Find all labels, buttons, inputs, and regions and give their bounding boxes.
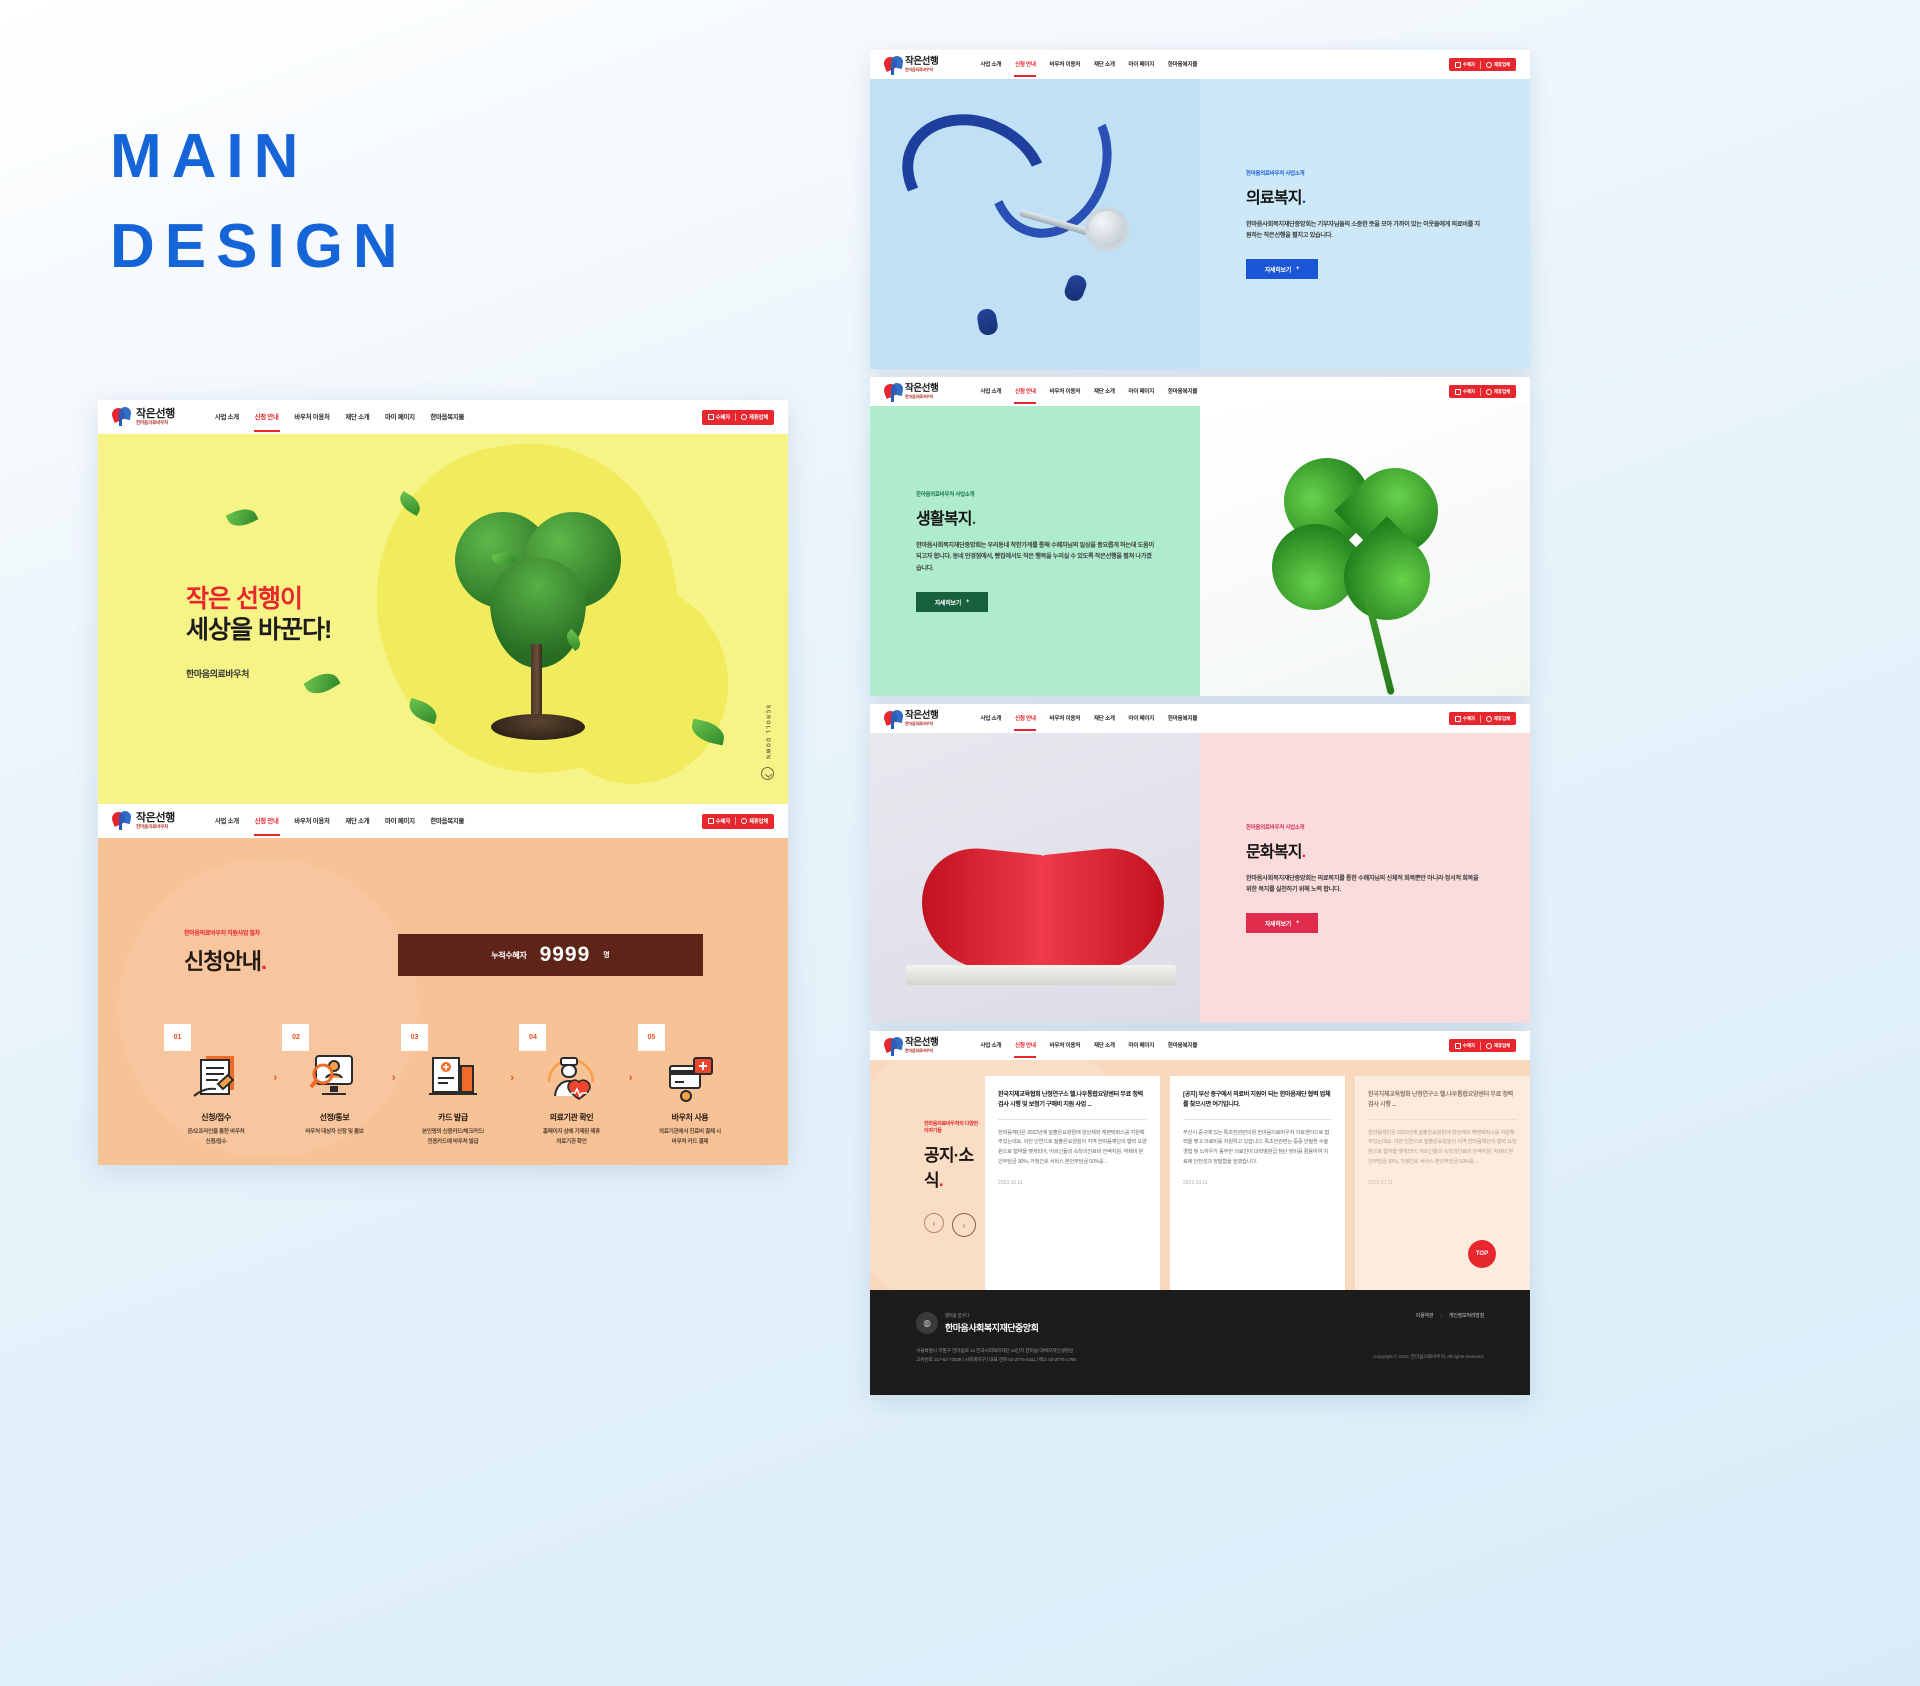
nav-item-apply[interactable]: 신청 안내 — [1015, 387, 1036, 397]
site-header-secondary: 작은선행 한마음의료바우처 사업 소개 · 신청 안내 · 바우처 이용처 · … — [98, 804, 788, 838]
living-welfare-section: 한마음의료바우처 사업소개 생활복지. 한마음사회복지재단중앙회는 우리동네 착… — [870, 406, 1530, 696]
section-description: 한마음사회복지재단중앙회는 우리동네 착한가게를 통해 수혜자님의 일상을 풍요… — [916, 540, 1154, 574]
step-desc-line2: 전용카드에 바우처 발급 — [405, 1138, 501, 1148]
hero-line1: 작은 선행이 — [186, 585, 302, 613]
section-title: 생활복지 — [916, 511, 972, 528]
nav-separator: · — [1160, 716, 1162, 722]
carousel-prev-button[interactable]: ‹ — [924, 1213, 944, 1233]
nav-item-welfare-mall[interactable]: 한마음복지몰 — [430, 412, 464, 423]
nav-separator: · — [1160, 62, 1162, 68]
nav-separator: · — [246, 818, 248, 824]
site-logo[interactable]: 작은선행 한마음의료바우처 — [884, 710, 938, 727]
step-number: 02 — [282, 1024, 309, 1051]
apply-guide-section: 한마음의료바우처 지원사업 절차 신청안내. 누적수혜자 9999 명 01 신… — [98, 838, 788, 1165]
notice-section: 한마음의료바우처의 다양한 이야기들 공지·소식. ‹ › 한국지체교육협회 난… — [870, 1060, 1530, 1290]
nav-item-voucher-places[interactable]: 바우처 이용처 — [294, 412, 329, 423]
nav-separator: · — [286, 818, 288, 824]
nav-item-voucher-places[interactable]: 바우처 이용처 — [1050, 1041, 1081, 1051]
nav-separator: · — [1121, 1043, 1123, 1049]
header-action-buttons[interactable]: 수혜자 제휴업체 — [1449, 712, 1516, 725]
nav-item-business[interactable]: 사업 소개 — [980, 60, 1001, 70]
notice-title-dot: . — [939, 1171, 943, 1190]
partner-button[interactable]: 제휴업체 — [1486, 1043, 1510, 1049]
logo-name: 작은선행 — [905, 1038, 938, 1048]
nav-separator: · — [1042, 716, 1044, 722]
header-action-buttons[interactable]: 수혜자 제휴업체 — [1449, 1039, 1516, 1052]
logo-subtitle: 한마음의료바우처 — [905, 722, 938, 726]
scroll-down-label: SCROLL DOWN — [765, 705, 771, 760]
nav-item-mypage[interactable]: 마이 페이지 — [385, 412, 415, 423]
culture-welfare-section: 한마음의료바우처 사업소개 문화복지. 한마음사회복지재단중앙회는 의료복지를 … — [870, 733, 1530, 1023]
process-step: 02 선정/통보 바우처 대상자 선정 및 통보 — [286, 1038, 382, 1138]
divider — [1480, 715, 1481, 723]
medical-welfare-copy: 한마음의료바우처 사업소개 의료복지. 한마음사회복지재단중앙회는 기부자님들의… — [1200, 79, 1530, 369]
step-desc-line2: 바우처 카드 결제 — [642, 1138, 738, 1148]
nav-separator: · — [422, 818, 424, 824]
beneficiary-button[interactable]: 수혜자 — [1455, 389, 1475, 395]
notice-card-date: 2023.10.11 — [998, 1180, 1147, 1186]
step-number: 01 — [164, 1024, 191, 1051]
plus-icon: + — [1296, 920, 1299, 926]
partner-button[interactable]: 제휴업체 — [1486, 389, 1510, 395]
partner-button[interactable]: 제휴업체 — [741, 817, 768, 825]
step-desc-line1: 바우처 대상자 선정 및 통보 — [286, 1128, 382, 1138]
notice-card-title: 한국지체교육협회 난청연구소 헬.나우통합요양센터 무료 청력검사 시행 및 보… — [998, 1090, 1147, 1110]
step-arrow-icon: › — [629, 1072, 633, 1084]
nav-item-apply[interactable]: 신청 안내 — [255, 412, 279, 423]
notice-card-body: 한마음재단은 2022년에 잘출은요양원에 양상제와 케펜텍파스를 지원해주었는… — [1368, 1129, 1517, 1168]
divider — [735, 413, 736, 421]
beneficiary-button[interactable]: 수혜자 — [708, 413, 730, 421]
section-title-dot: . — [1302, 844, 1306, 861]
nav-item-welfare-mall[interactable]: 한마음복지몰 — [1168, 1041, 1197, 1051]
notice-card[interactable]: 한국지체교육협회 난청연구소 헬.나우통합요양센터 무료 청력검사 시행 ...… — [1355, 1076, 1530, 1290]
nav-separator: · — [1007, 62, 1009, 68]
step-desc-line2: 의료기관 확인 — [523, 1138, 619, 1148]
nav-item-welfare-mall[interactable]: 한마음복지몰 — [1168, 714, 1197, 724]
hero-line2: 세상을 바꾼다! — [186, 615, 331, 646]
site-logo[interactable]: 작은선행 한마음의료바우처 — [112, 407, 175, 427]
logo-name: 작은선행 — [905, 57, 938, 67]
detail-button-label: 자세히보기 — [1265, 265, 1291, 274]
counter-unit: 명 — [603, 950, 609, 960]
medical-welfare-section: 한마음의료바우처 사업소개 의료복지. 한마음사회복지재단중앙회는 기부자님들의… — [870, 79, 1530, 369]
section-description: 한마음사회복지재단중앙회는 기부자님들의 소중한 뜻을 모아 가까이 있는 이웃… — [1246, 219, 1484, 242]
section-title: 문화복지 — [1246, 844, 1302, 861]
detail-button[interactable]: 자세히보기 + — [1246, 259, 1318, 279]
page-title-line2: DESIGN — [110, 202, 408, 292]
site-logo[interactable]: 작은선행 한마음의료바우처 — [884, 56, 938, 73]
divider — [1480, 61, 1481, 69]
site-footer: ◍ 행복을 꿈꾸다 한마음사회복지재단중앙회 서울특별시 저말구 한마음로 14… — [870, 1290, 1530, 1395]
primary-nav: 사업 소개· 신청 안내· 바우처 이용처· 재단 소개· 마이 페이지· 한마… — [980, 1041, 1197, 1051]
nav-item-mypage[interactable]: 마이 페이지 — [1128, 714, 1154, 724]
nav-separator: · — [422, 414, 424, 420]
divider — [1480, 388, 1481, 396]
footer-contact: 고유번호 317-82-72538 | 사회복지구 | 대표 전화 02-377… — [916, 1356, 1234, 1365]
nav-item-mypage[interactable]: 마이 페이지 — [1128, 1041, 1154, 1051]
notice-card[interactable]: 한국지체교육협회 난청연구소 헬.나우통합요양센터 무료 청력검사 시행 및 보… — [985, 1076, 1160, 1290]
beneficiary-button[interactable]: 수혜자 — [1455, 1043, 1475, 1049]
nav-item-business[interactable]: 사업 소개 — [980, 387, 1001, 397]
divider — [998, 1119, 1147, 1120]
footer-link-separator: | — [1440, 1313, 1441, 1319]
step-desc-line2: 신청/접수 — [168, 1138, 264, 1148]
detail-button-label: 자세히보기 — [935, 598, 961, 607]
footer-copyright: Copyright © 2023. 한마음의료바우처. All rights r… — [1234, 1353, 1484, 1360]
page-title-line1: MAIN — [110, 112, 408, 202]
nav-item-apply[interactable]: 신청 안내 — [1015, 1041, 1036, 1051]
header-action-buttons[interactable]: 수혜자 제휴업체 — [1449, 385, 1516, 398]
site-header: 작은선행 한마음의료바우처 사업 소개· 신청 안내· 바우처 이용처· 재단 … — [870, 1031, 1530, 1060]
notice-news-mockup: 작은선행 한마음의료바우처 사업 소개· 신청 안내· 바우처 이용처· 재단 … — [870, 1031, 1530, 1395]
scroll-down-indicator[interactable]: SCROLL DOWN — [761, 705, 774, 780]
step-arrow-icon: › — [273, 1072, 277, 1084]
nav-item-voucher-places[interactable]: 바우처 이용처 — [294, 816, 329, 827]
divider — [1183, 1119, 1332, 1120]
leaf-icon — [226, 504, 259, 531]
nav-item-foundation[interactable]: 재단 소개 — [1094, 714, 1115, 724]
card-issue-icon — [425, 1052, 481, 1104]
logo-name: 작은선행 — [905, 384, 938, 394]
logo-subtitle: 한마음의료바우처 — [905, 395, 938, 399]
nav-separator: · — [376, 414, 378, 420]
nav-separator: · — [1121, 389, 1123, 395]
step-name: 선정/통보 — [286, 1112, 382, 1123]
notice-card-date: 2023.10.11 — [1183, 1180, 1332, 1186]
site-header: 작은선행 한마음의료바우처 사업 소개 · 신청 안내 · 바우처 이용처 · … — [98, 400, 788, 434]
calendar-icon — [708, 818, 714, 824]
nav-separator: · — [1007, 716, 1009, 722]
nav-item-apply[interactable]: 신청 안내 — [1015, 60, 1036, 70]
calendar-icon — [1455, 62, 1461, 68]
step-number: 04 — [519, 1024, 546, 1051]
divider — [735, 817, 736, 825]
page-title: MAIN DESIGN — [110, 112, 408, 292]
logo-subtitle: 한마음의료바우처 — [905, 68, 938, 72]
apply-heading: 한마음의료바우처 지원사업 절차 신청안내. — [184, 928, 266, 976]
divider — [1480, 1042, 1481, 1050]
notice-card[interactable]: [공지] 부산 중구에서 의료비 지원이 되는 한마음재단 협력 업체를 찾으시… — [1170, 1076, 1345, 1290]
logo-mark-icon — [884, 383, 901, 400]
footer-org-name: 한마음사회복지재단중앙회 — [945, 1321, 1038, 1334]
culture-welfare-copy: 한마음의료바우처 사업소개 문화복지. 한마음사회복지재단중앙회는 의료복지를 … — [1200, 733, 1530, 1023]
calendar-icon — [1455, 716, 1461, 722]
logo-subtitle: 한마음의료바우처 — [136, 421, 175, 426]
notice-heading: 한마음의료바우처의 다양한 이야기들 공지·소식. ‹ › — [870, 1060, 979, 1290]
footer-link-terms[interactable]: 이용약관 — [1416, 1313, 1434, 1319]
section-eyebrow: 한마음의료바우처 사업소개 — [916, 490, 1154, 498]
detail-button-label: 자세히보기 — [1265, 919, 1291, 928]
nav-item-welfare-mall[interactable]: 한마음복지몰 — [430, 816, 464, 827]
partner-button[interactable]: 제휴업체 — [1486, 716, 1510, 722]
application-form-icon — [188, 1052, 244, 1104]
nav-item-voucher-places[interactable]: 바우처 이용처 — [1050, 387, 1081, 397]
section-eyebrow: 한마음의료바우처 사업소개 — [1246, 169, 1484, 177]
sub-page-mockups: 작은선행 한마음의료바우처 사업 소개· 신청 안내· 바우처 이용처· 재단 … — [870, 50, 1530, 1403]
notice-card-list: 한국지체교육협회 난청연구소 헬.나우통합요양센터 무료 청력검사 시행 및 보… — [979, 1060, 1530, 1290]
site-logo[interactable]: 작은선행 한마음의료바우처 — [884, 383, 938, 400]
notice-card-date: 2023.10.11 — [1368, 1180, 1517, 1186]
culture-welfare-mockup: 작은선행 한마음의료바우처 사업 소개· 신청 안내· 바우처 이용처· 재단 … — [870, 704, 1530, 1023]
footer-address: 서울특별시 저말구 한마음로 14 한국사회복지재단 10단지 한마음·대체지개… — [916, 1347, 1234, 1356]
site-logo[interactable]: 작은선행 한마음의료바우처 — [112, 811, 175, 831]
nav-item-apply[interactable]: 신청 안내 — [1015, 714, 1036, 724]
nav-item-foundation[interactable]: 재단 소개 — [1094, 1041, 1115, 1051]
heart-tree-image — [443, 506, 633, 756]
section-description: 한마음사회복지재단중앙회는 의료복지를 통한 수혜자님의 신체적 회복뿐만 아니… — [1246, 873, 1484, 896]
apply-title-dot: . — [261, 949, 266, 974]
beneficiary-button[interactable]: 수혜자 — [1455, 716, 1475, 722]
living-welfare-mockup: 작은선행 한마음의료바우처 사업 소개· 신청 안내· 바우처 이용처· 재단 … — [870, 377, 1530, 696]
notice-card-title: [공지] 부산 중구에서 의료비 지원이 되는 한마음재단 협력 업체를 찾으시… — [1183, 1090, 1332, 1110]
logo-mark-icon — [884, 710, 901, 727]
notice-title: 공지·소식 — [924, 1146, 973, 1190]
process-steps: 01 신청/접수 온/오프라인을 통한 바우처 신청/접수 › 02 선정/통보 — [168, 1038, 738, 1147]
detail-button[interactable]: 자세히보기 + — [1246, 913, 1318, 933]
header-action-buttons[interactable]: 수혜자 제휴업체 — [702, 410, 774, 425]
process-step: 01 신청/접수 온/오프라인을 통한 바우처 신청/접수 — [168, 1038, 264, 1147]
footer-tagline: 행복을 꿈꾸다 — [945, 1313, 1038, 1319]
step-name: 신청/접수 — [168, 1112, 264, 1123]
carousel-next-button[interactable]: › — [952, 1213, 976, 1237]
step-desc-line1: 온/오프라인을 통한 바우처 — [168, 1128, 264, 1138]
hero-subtitle: 한마음의료바우처 — [186, 667, 331, 680]
process-step: 04 의료기관 확인 홈페이지 상에 기재된 제휴 의료기관 확인 — [523, 1038, 619, 1147]
nav-separator: · — [1042, 1043, 1044, 1049]
step-number: 03 — [401, 1024, 428, 1051]
logo-mark-icon — [884, 1037, 901, 1054]
nav-separator: · — [1086, 389, 1088, 395]
calendar-icon — [1455, 1043, 1461, 1049]
section-title: 의료복지 — [1246, 190, 1302, 207]
nav-item-foundation[interactable]: 재단 소개 — [345, 816, 369, 827]
step-arrow-icon: › — [510, 1072, 514, 1084]
nav-separator: · — [1042, 62, 1044, 68]
partner-button[interactable]: 제휴업체 — [741, 413, 768, 421]
nav-item-business[interactable]: 사업 소개 — [215, 412, 239, 423]
nav-item-business[interactable]: 사업 소개 — [980, 1041, 1001, 1051]
section-title-dot: . — [972, 511, 976, 528]
plus-icon: + — [1296, 266, 1299, 272]
nav-item-voucher-places[interactable]: 바우처 이용처 — [1050, 714, 1081, 724]
counter-value: 9999 — [540, 943, 591, 967]
nav-item-welfare-mall[interactable]: 한마음복지몰 — [1168, 387, 1197, 397]
primary-nav: 사업 소개· 신청 안내· 바우처 이용처· 재단 소개· 마이 페이지· 한마… — [980, 387, 1197, 397]
header-action-buttons[interactable]: 수혜자 제휴업체 — [702, 814, 774, 829]
scroll-to-top-button[interactable]: TOP — [1468, 1240, 1496, 1268]
primary-nav: 사업 소개· 신청 안내· 바우처 이용처· 재단 소개· 마이 페이지· 한마… — [980, 714, 1197, 724]
notice-card-title: 한국지체교육협회 난청연구소 헬.나우통합요양센터 무료 청력검사 시행 ... — [1368, 1090, 1517, 1110]
notice-card-body: 부산시 중구에 있는 특초한관련의원 한마음의료바우처 의료센터으로 협력을 맺… — [1183, 1129, 1332, 1168]
apply-eyebrow: 한마음의료바우처 지원사업 절차 — [184, 928, 266, 937]
step-desc-line1: 홈페이지 상에 기재된 제휴 — [523, 1128, 619, 1138]
nav-separator: · — [1121, 716, 1123, 722]
site-header: 작은선행 한마음의료바우처 사업 소개· 신청 안내· 바우처 이용처· 재단 … — [870, 704, 1530, 733]
hero-banner: 작은 선행이 세상을 바꾼다! 한마음의료바우처 SCROLL DOWN — [98, 434, 788, 804]
nav-separator: · — [376, 818, 378, 824]
beneficiary-counter: 누적수혜자 9999 명 — [398, 934, 703, 976]
living-welfare-copy: 한마음의료바우처 사업소개 생활복지. 한마음사회복지재단중앙회는 우리동네 착… — [870, 406, 1200, 696]
handshake-icon — [1486, 1043, 1492, 1049]
beneficiary-button[interactable]: 수혜자 — [708, 817, 730, 825]
handshake-icon — [1486, 389, 1492, 395]
logo-name: 작은선행 — [905, 711, 938, 721]
header-action-buttons[interactable]: 수혜자 제휴업체 — [1449, 58, 1516, 71]
nav-separator: · — [1086, 1043, 1088, 1049]
chevron-down-icon — [761, 767, 774, 780]
carousel-controls: ‹ › — [924, 1213, 979, 1237]
nav-item-welfare-mall[interactable]: 한마음복지몰 — [1168, 60, 1197, 70]
section-eyebrow: 한마음의료바우처 사업소개 — [1246, 823, 1484, 831]
nav-item-business[interactable]: 사업 소개 — [980, 714, 1001, 724]
counter-label: 누적수혜자 — [491, 950, 526, 961]
clover-photo — [1200, 406, 1530, 696]
step-desc-line1: 본인명의 신용카드/체크카드/ — [405, 1128, 501, 1138]
nav-separator: · — [1160, 389, 1162, 395]
nav-separator: · — [1007, 389, 1009, 395]
apply-title: 신청안내 — [184, 949, 261, 974]
step-number: 05 — [638, 1024, 665, 1051]
calendar-icon — [708, 414, 714, 420]
nav-item-apply[interactable]: 신청 안내 — [255, 816, 279, 827]
beneficiary-button[interactable]: 수혜자 — [1455, 62, 1475, 68]
primary-nav: 사업 소개 · 신청 안내 · 바우처 이용처 · 재단 소개 · 마이 페이지… — [215, 816, 464, 827]
nav-item-voucher-places[interactable]: 바우처 이용처 — [1050, 60, 1081, 70]
nav-separator: · — [1042, 389, 1044, 395]
handshake-icon — [1486, 716, 1492, 722]
medical-welfare-mockup: 작은선행 한마음의료바우처 사업 소개· 신청 안내· 바우처 이용처· 재단 … — [870, 50, 1530, 369]
main-design-mockup: 작은선행 한마음의료바우처 사업 소개 · 신청 안내 · 바우처 이용처 · … — [98, 400, 788, 1165]
handshake-icon — [741, 414, 747, 420]
logo-mark-icon — [884, 56, 901, 73]
step-name: 바우처 사용 — [642, 1112, 738, 1123]
divider — [1368, 1119, 1517, 1120]
nav-separator: · — [1007, 1043, 1009, 1049]
footer-logo: ◍ 행복을 꿈꾸다 한마음사회복지재단중앙회 — [916, 1312, 1234, 1334]
nav-separator: · — [246, 414, 248, 420]
detail-button[interactable]: 자세히보기 + — [916, 592, 988, 612]
nav-item-mypage[interactable]: 마이 페이지 — [1128, 60, 1154, 70]
primary-nav: 사업 소개 · 신청 안내 · 바우처 이용처 · 재단 소개 · 마이 페이지… — [215, 412, 464, 423]
logo-name: 작은선행 — [136, 813, 175, 824]
footer-link-privacy[interactable]: 개인정보처리방침 — [1449, 1313, 1484, 1319]
calendar-icon — [1455, 389, 1461, 395]
logo-mark-icon — [112, 407, 132, 427]
footer-logo-icon: ◍ — [916, 1312, 938, 1334]
step-name: 의료기관 확인 — [523, 1112, 619, 1123]
nav-separator: · — [1121, 62, 1123, 68]
process-step: 03 카드 발급 본인명의 신용카드/체크카드/ 전용카드에 바우처 발급 — [405, 1038, 501, 1147]
site-logo[interactable]: 작은선행 한마음의료바우처 — [884, 1037, 938, 1054]
voucher-use-icon — [662, 1052, 718, 1104]
nav-item-mypage[interactable]: 마이 페이지 — [385, 816, 415, 827]
nav-separator: · — [337, 818, 339, 824]
nav-separator: · — [1086, 62, 1088, 68]
book-heart-photo — [870, 733, 1200, 1023]
notice-eyebrow: 한마음의료바우처의 다양한 이야기들 — [924, 1120, 979, 1134]
medical-staff-icon — [543, 1052, 599, 1104]
nav-item-foundation[interactable]: 재단 소개 — [345, 412, 369, 423]
nav-separator: · — [1086, 716, 1088, 722]
nav-separator: · — [286, 414, 288, 420]
primary-nav: 사업 소개· 신청 안내· 바우처 이용처· 재단 소개· 마이 페이지· 한마… — [980, 60, 1197, 70]
nav-item-business[interactable]: 사업 소개 — [215, 816, 239, 827]
section-title-dot: . — [1302, 190, 1306, 207]
step-arrow-icon: › — [392, 1072, 396, 1084]
nav-separator: · — [1160, 1043, 1162, 1049]
handshake-icon — [1486, 62, 1492, 68]
step-desc-line1: 의료기관에서 진료비 결제 시 — [642, 1128, 738, 1138]
stethoscope-photo — [870, 79, 1200, 369]
logo-subtitle: 한마음의료바우처 — [136, 825, 175, 830]
step-name: 카드 발급 — [405, 1112, 501, 1123]
nav-item-foundation[interactable]: 재단 소개 — [1094, 387, 1115, 397]
nav-item-foundation[interactable]: 재단 소개 — [1094, 60, 1115, 70]
nav-separator: · — [337, 414, 339, 420]
nav-item-mypage[interactable]: 마이 페이지 — [1128, 387, 1154, 397]
user-search-icon — [306, 1052, 362, 1104]
hero-copy: 작은 선행이 세상을 바꾼다! 한마음의료바우처 — [186, 584, 331, 680]
site-header: 작은선행 한마음의료바우처 사업 소개· 신청 안내· 바우처 이용처· 재단 … — [870, 377, 1530, 406]
logo-name: 작은선행 — [136, 409, 175, 420]
partner-button[interactable]: 제휴업체 — [1486, 62, 1510, 68]
logo-subtitle: 한마음의료바우처 — [905, 1049, 938, 1053]
logo-mark-icon — [112, 811, 132, 831]
process-step: 05 바우처 사용 의료기관에서 진료비 결제 시 바우처 카드 결제 — [642, 1038, 738, 1147]
handshake-icon — [741, 818, 747, 824]
plus-icon: + — [966, 599, 969, 605]
notice-card-body: 한마음재단은 2022년에 잘출은요양원에 양상제와 케펜텍파스를 지원해주었는… — [998, 1129, 1147, 1168]
site-header: 작은선행 한마음의료바우처 사업 소개· 신청 안내· 바우처 이용처· 재단 … — [870, 50, 1530, 79]
